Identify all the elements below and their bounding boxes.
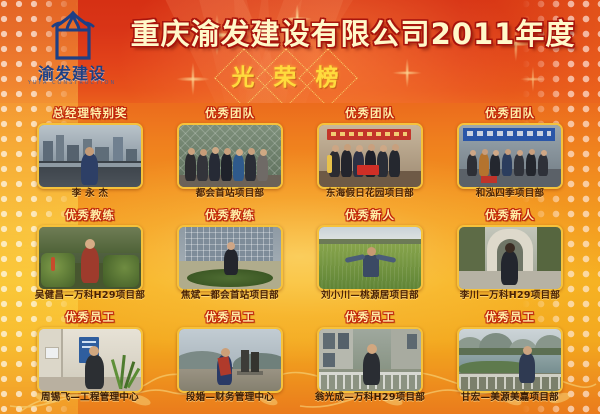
- award-photo-frame[interactable]: [37, 123, 143, 189]
- man-on-path-archway-photo: [459, 227, 561, 289]
- company-logo: 渝发建设 YUFA CONSTRUCTION: [24, 8, 120, 96]
- award-caption: 李川—万科H29项目部: [434, 290, 586, 302]
- honor-char: 光: [232, 67, 255, 90]
- team-group-outdoor-fence-photo: [179, 125, 281, 187]
- award-title: 总经理特别奖: [20, 106, 160, 120]
- award-photo-frame[interactable]: [177, 225, 283, 291]
- award-cell[interactable]: 优秀员工 翁光成—万科H29项目部: [300, 308, 440, 410]
- man-red-jacket-garden-photo: [39, 227, 141, 289]
- award-photo-frame[interactable]: [317, 123, 423, 189]
- award-cell[interactable]: 优秀员工: [20, 308, 160, 410]
- man-by-balcony-railing-photo: [319, 329, 421, 391]
- award-cell[interactable]: 优秀新人 刘小川—桃源居项目部: [300, 206, 440, 308]
- award-photo-frame[interactable]: [457, 327, 563, 393]
- award-photo-frame[interactable]: [317, 327, 423, 393]
- team-group-stage-banner-photo: [459, 125, 561, 187]
- poster-title: 重庆渝发建设有限公司2011年度: [118, 14, 588, 54]
- award-cell[interactable]: 优秀教练 吴健昌—万科H29项目部: [20, 206, 160, 308]
- award-cell[interactable]: 优秀员工 甘宏—美源美嘉项目部: [440, 308, 580, 410]
- award-caption: 翁光成—万科H29项目部: [294, 392, 446, 404]
- award-photo-frame[interactable]: [457, 225, 563, 291]
- team-group-indoor-banner-photo: [319, 125, 421, 187]
- awards-grid: 总经理特别奖 李 永 杰: [20, 104, 580, 410]
- award-caption: 和泓四季项目部: [434, 188, 586, 200]
- award-title: 优秀教练: [20, 208, 160, 222]
- award-cell[interactable]: 总经理特别奖 李 永 杰: [20, 104, 160, 206]
- award-title: 优秀新人: [440, 208, 580, 222]
- award-title: 优秀团队: [300, 106, 440, 120]
- award-title: 优秀新人: [300, 208, 440, 222]
- award-caption: 甘宏—美源美嘉项目部: [434, 392, 586, 404]
- honor-diamond: 榜: [301, 56, 353, 100]
- man-by-river-city-skyline-photo: [39, 125, 141, 187]
- award-cell[interactable]: 优秀教练 焦斌—都会首站项目部: [160, 206, 300, 308]
- award-photo-frame[interactable]: [37, 327, 143, 393]
- man-by-lake-hills-photo: [459, 329, 561, 391]
- award-title: 优秀员工: [440, 310, 580, 324]
- logo-subtext: YUFA CONSTRUCTION: [24, 80, 120, 86]
- award-title: 优秀员工: [20, 310, 160, 324]
- award-cell[interactable]: 优秀员工 段婚—财务管理中心: [160, 308, 300, 410]
- honor-roll-poster: 渝发建设 YUFA CONSTRUCTION 重庆渝发建设有限公司2011年度 …: [0, 0, 600, 414]
- man-in-front-of-building-photo: [179, 227, 281, 289]
- honor-roll-heading: 光 荣 榜: [190, 55, 380, 101]
- house-building-logo-icon: [48, 10, 98, 62]
- award-photo-frame[interactable]: [177, 123, 283, 189]
- award-photo-frame[interactable]: [177, 327, 283, 393]
- award-caption: 东海假日花园项目部: [294, 188, 446, 200]
- award-cell[interactable]: 优秀团队: [440, 104, 580, 206]
- award-photo-frame[interactable]: [317, 225, 423, 291]
- award-caption: 吴健昌—万科H29项目部: [14, 290, 166, 302]
- man-arms-open-in-field-photo: [319, 227, 421, 289]
- award-title: 优秀员工: [300, 310, 440, 324]
- award-caption: 周锡飞—工程管理中心: [14, 392, 166, 404]
- award-cell[interactable]: 优秀新人 李川—万科H29项目部: [440, 206, 580, 308]
- man-at-mountain-statue-photo: [179, 329, 281, 391]
- award-title: 优秀团队: [160, 106, 300, 120]
- award-caption: 都会首站项目部: [154, 188, 306, 200]
- honor-char: 榜: [316, 67, 339, 90]
- man-in-office-with-plant-photo: [39, 329, 141, 391]
- award-title: 优秀教练: [160, 208, 300, 222]
- award-caption: 焦斌—都会首站项目部: [154, 290, 306, 302]
- award-photo-frame[interactable]: [457, 123, 563, 189]
- award-caption: 刘小川—桃源居项目部: [294, 290, 446, 302]
- award-cell[interactable]: 优秀团队: [300, 104, 440, 206]
- award-cell[interactable]: 优秀团队: [160, 104, 300, 206]
- award-title: 优秀团队: [440, 106, 580, 120]
- honor-char: 荣: [274, 67, 297, 90]
- award-caption: 段婚—财务管理中心: [154, 392, 306, 404]
- award-title: 优秀员工: [160, 310, 300, 324]
- poster-header: 渝发建设 YUFA CONSTRUCTION 重庆渝发建设有限公司2011年度 …: [0, 0, 600, 103]
- award-photo-frame[interactable]: [37, 225, 143, 291]
- award-caption: 李 永 杰: [14, 188, 166, 200]
